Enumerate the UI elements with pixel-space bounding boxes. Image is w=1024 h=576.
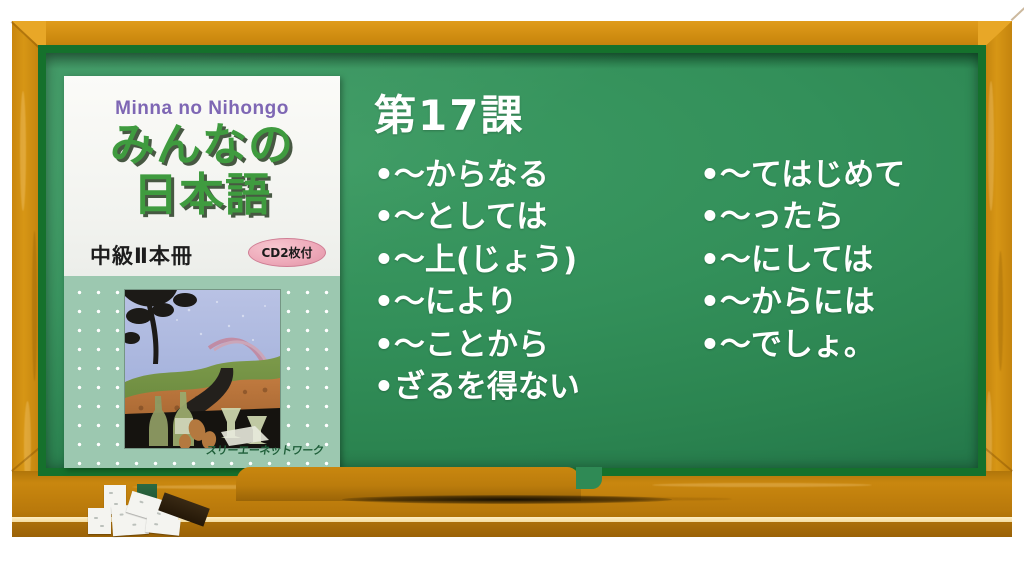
list-item: •〜ったら bbox=[700, 196, 905, 238]
list-item: •〜からなる bbox=[374, 154, 580, 196]
list-item: •〜にしては bbox=[700, 239, 905, 281]
list-item: •〜により bbox=[374, 281, 580, 323]
list-item: •〜てはじめて bbox=[700, 154, 905, 196]
list-item: •〜上(じょう) bbox=[374, 239, 580, 281]
book-japanese-title: みんなの 日本語 bbox=[64, 120, 340, 221]
list-item: •〜としては bbox=[374, 196, 580, 238]
book-title-line1: みんなの bbox=[64, 120, 340, 170]
list-item: •〜ことから bbox=[374, 324, 580, 366]
book-cd-badge: CD2枚付 bbox=[248, 238, 326, 267]
list-item: •〜からには bbox=[700, 281, 905, 323]
list-item: •〜でしょ。 bbox=[700, 324, 905, 366]
book-romaji-title: Minna no Nihongo bbox=[64, 98, 340, 120]
slide-canvas: Minna no Nihongo みんなの 日本語 中級Ⅱ本冊 CD2枚付 bbox=[0, 0, 1024, 576]
book-level-label: 中級Ⅱ本冊 bbox=[90, 240, 193, 270]
chalk-ledge bbox=[46, 455, 978, 485]
chalk-piece bbox=[88, 508, 111, 534]
chalk-piece bbox=[145, 516, 180, 535]
book-cover-artwork bbox=[125, 290, 280, 448]
book-title-line2: 日本語 bbox=[64, 170, 340, 220]
grammar-list-left: •〜からなる •〜としては •〜上(じょう) •〜により •〜ことから •ざるを… bbox=[374, 154, 580, 409]
lesson-title: 第17課 bbox=[374, 82, 524, 143]
list-item: •ざるを得ない bbox=[374, 366, 580, 408]
ledge-notch bbox=[576, 467, 602, 489]
ledge-shadow bbox=[342, 495, 672, 504]
frame-seam-top-right bbox=[1011, 0, 1024, 21]
board-top-shading bbox=[46, 53, 978, 69]
grammar-list-right: •〜てはじめて •〜ったら •〜にしては •〜からには •〜でしょ。 bbox=[700, 154, 905, 366]
textbook-cover: Minna no Nihongo みんなの 日本語 中級Ⅱ本冊 CD2枚付 bbox=[64, 76, 340, 468]
